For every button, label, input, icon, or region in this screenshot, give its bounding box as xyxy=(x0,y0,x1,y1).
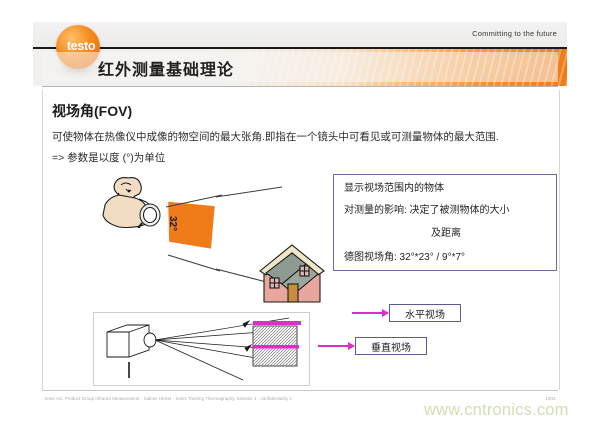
info-line-3: 及距离 xyxy=(334,227,558,240)
house-illustration xyxy=(256,240,328,308)
body-paragraph-2: => 参数是以度 (°)为单位 xyxy=(52,150,165,165)
slide-header: Committing to the future xyxy=(33,22,567,48)
site-watermark: www.cntronics.com xyxy=(424,401,569,420)
vertical-fov-arrow xyxy=(318,345,354,347)
info-line-2: 对测量的影响: 决定了被测物体的大小 xyxy=(344,204,510,217)
info-line-4: 德图视场角: 32°*23° / 9°*7° xyxy=(344,251,465,264)
callout-vertical-fov: 垂直视场 xyxy=(355,337,427,355)
footer-divider xyxy=(42,390,558,391)
footer-text: testo AG, Product Group Infrared Measure… xyxy=(45,396,292,401)
section-heading: 视场角(FOV) xyxy=(52,101,132,121)
page-title: 红外测量基础理论 xyxy=(98,56,234,80)
white-mask-block xyxy=(78,228,142,256)
info-line-1: 显示视场范围内的物体 xyxy=(344,182,444,195)
horizontal-fov-arrow xyxy=(352,312,388,314)
camera-projection-graphic xyxy=(93,312,308,384)
header-divider-rule xyxy=(33,47,567,49)
title-underline xyxy=(42,86,558,87)
fov-info-box: 显示视场范围内的物体 对测量的影响: 决定了被测物体的大小 及距离 德图视场角:… xyxy=(333,174,557,271)
testo-logo-label: testo xyxy=(58,39,104,53)
header-tagline: Committing to the future xyxy=(472,29,557,38)
slide-canvas: Committing to the future testo 红外测量基础理论 … xyxy=(0,0,600,424)
callout-horizontal-fov: 水平视场 xyxy=(389,304,461,322)
body-paragraph-1: 可使物体在热像仪中成像的物空间的最大张角.即指在一个镜头中可看见或可测量物体的最… xyxy=(52,129,499,144)
